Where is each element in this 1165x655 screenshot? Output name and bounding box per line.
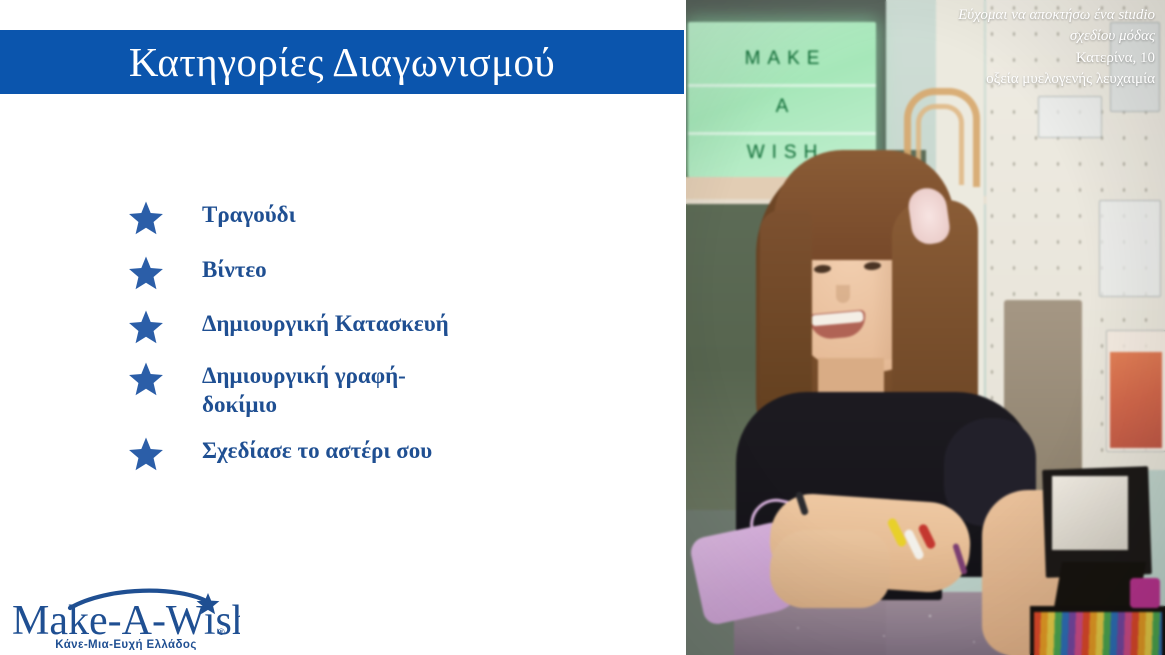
caption-line-name-age: Κατερίνα, 10	[855, 48, 1155, 69]
list-item-label: Δημιουργική Κατασκευή	[202, 307, 449, 339]
title-banner: Κατηγορίες Διαγωνισμού	[0, 30, 684, 94]
page-title: Κατηγορίες Διαγωνισμού	[0, 30, 684, 94]
category-list: Τραγούδι Βίντεο Δημιουργική Κατασκευή	[128, 198, 628, 490]
presentation-slide: Κατηγορίες Διαγωνισμού Τραγούδι Βίντεο	[0, 0, 1165, 655]
caption-line-wish-1: Εύχομαι να αποκτήσω ένα studio	[855, 5, 1155, 26]
caption-line-wish-2: σχεδίου μόδας	[855, 26, 1155, 47]
lightbox-line-1: MAKE	[688, 48, 876, 70]
colored-pencils	[1034, 612, 1162, 655]
list-item[interactable]: Σχεδίασε το αστέρι σου	[128, 434, 628, 472]
lightbox-separator	[688, 132, 876, 135]
list-item-label: Σχεδίασε το αστέρι σου	[202, 434, 432, 466]
list-item-label: Τραγούδι	[202, 198, 296, 230]
lightbox-line-2: A	[688, 96, 876, 118]
list-item-label-wrapped: Δημιουργική γραφή- δοκίμιο	[202, 359, 406, 420]
easel-paper	[1052, 476, 1128, 550]
caption-line-diagnosis: οξεία μυελογενής λευχαιμία	[855, 69, 1155, 90]
star-icon	[128, 361, 164, 397]
svg-text:Κάνε-Μια-Ευχή Ελλάδος: Κάνε-Μια-Ευχή Ελλάδος	[55, 639, 196, 650]
star-icon	[128, 200, 164, 236]
pink-container	[1130, 578, 1160, 608]
list-item[interactable]: Τραγούδι	[128, 198, 628, 236]
svg-text:Make-A-Wish: Make-A-Wish	[12, 598, 240, 644]
pegboard-poster	[1110, 352, 1162, 448]
list-item-label: Βίντεο	[202, 253, 267, 285]
star-icon	[128, 309, 164, 345]
list-item-label-line2: δοκίμιο	[202, 392, 277, 417]
list-item-label-line1: Δημιουργική γραφή-	[202, 363, 406, 388]
girl-teeth	[811, 311, 864, 326]
pegboard-bin	[1038, 96, 1102, 138]
star-icon	[128, 436, 164, 472]
list-item[interactable]: Βίντεο	[128, 253, 628, 291]
svg-text:®: ®	[218, 627, 225, 637]
girl-nose	[836, 285, 850, 303]
girl-hair-left	[760, 210, 812, 420]
wish-caption: Εύχομαι να αποκτήσω ένα studio σχεδίου μ…	[855, 5, 1155, 90]
make-a-wish-logo: Make-A-Wish ® Κάνε-Μια-Ευχή Ελλάδος	[12, 588, 240, 650]
wish-photo: MAKE A WISH	[686, 0, 1165, 655]
star-icon	[128, 255, 164, 291]
list-item[interactable]: Δημιουργική γραφή- δοκίμιο	[128, 359, 628, 420]
pegboard-bin	[1099, 200, 1161, 297]
lightbox-separator	[688, 84, 876, 87]
list-item[interactable]: Δημιουργική Κατασκευή	[128, 307, 628, 345]
girl-clasped-hands	[770, 530, 890, 608]
